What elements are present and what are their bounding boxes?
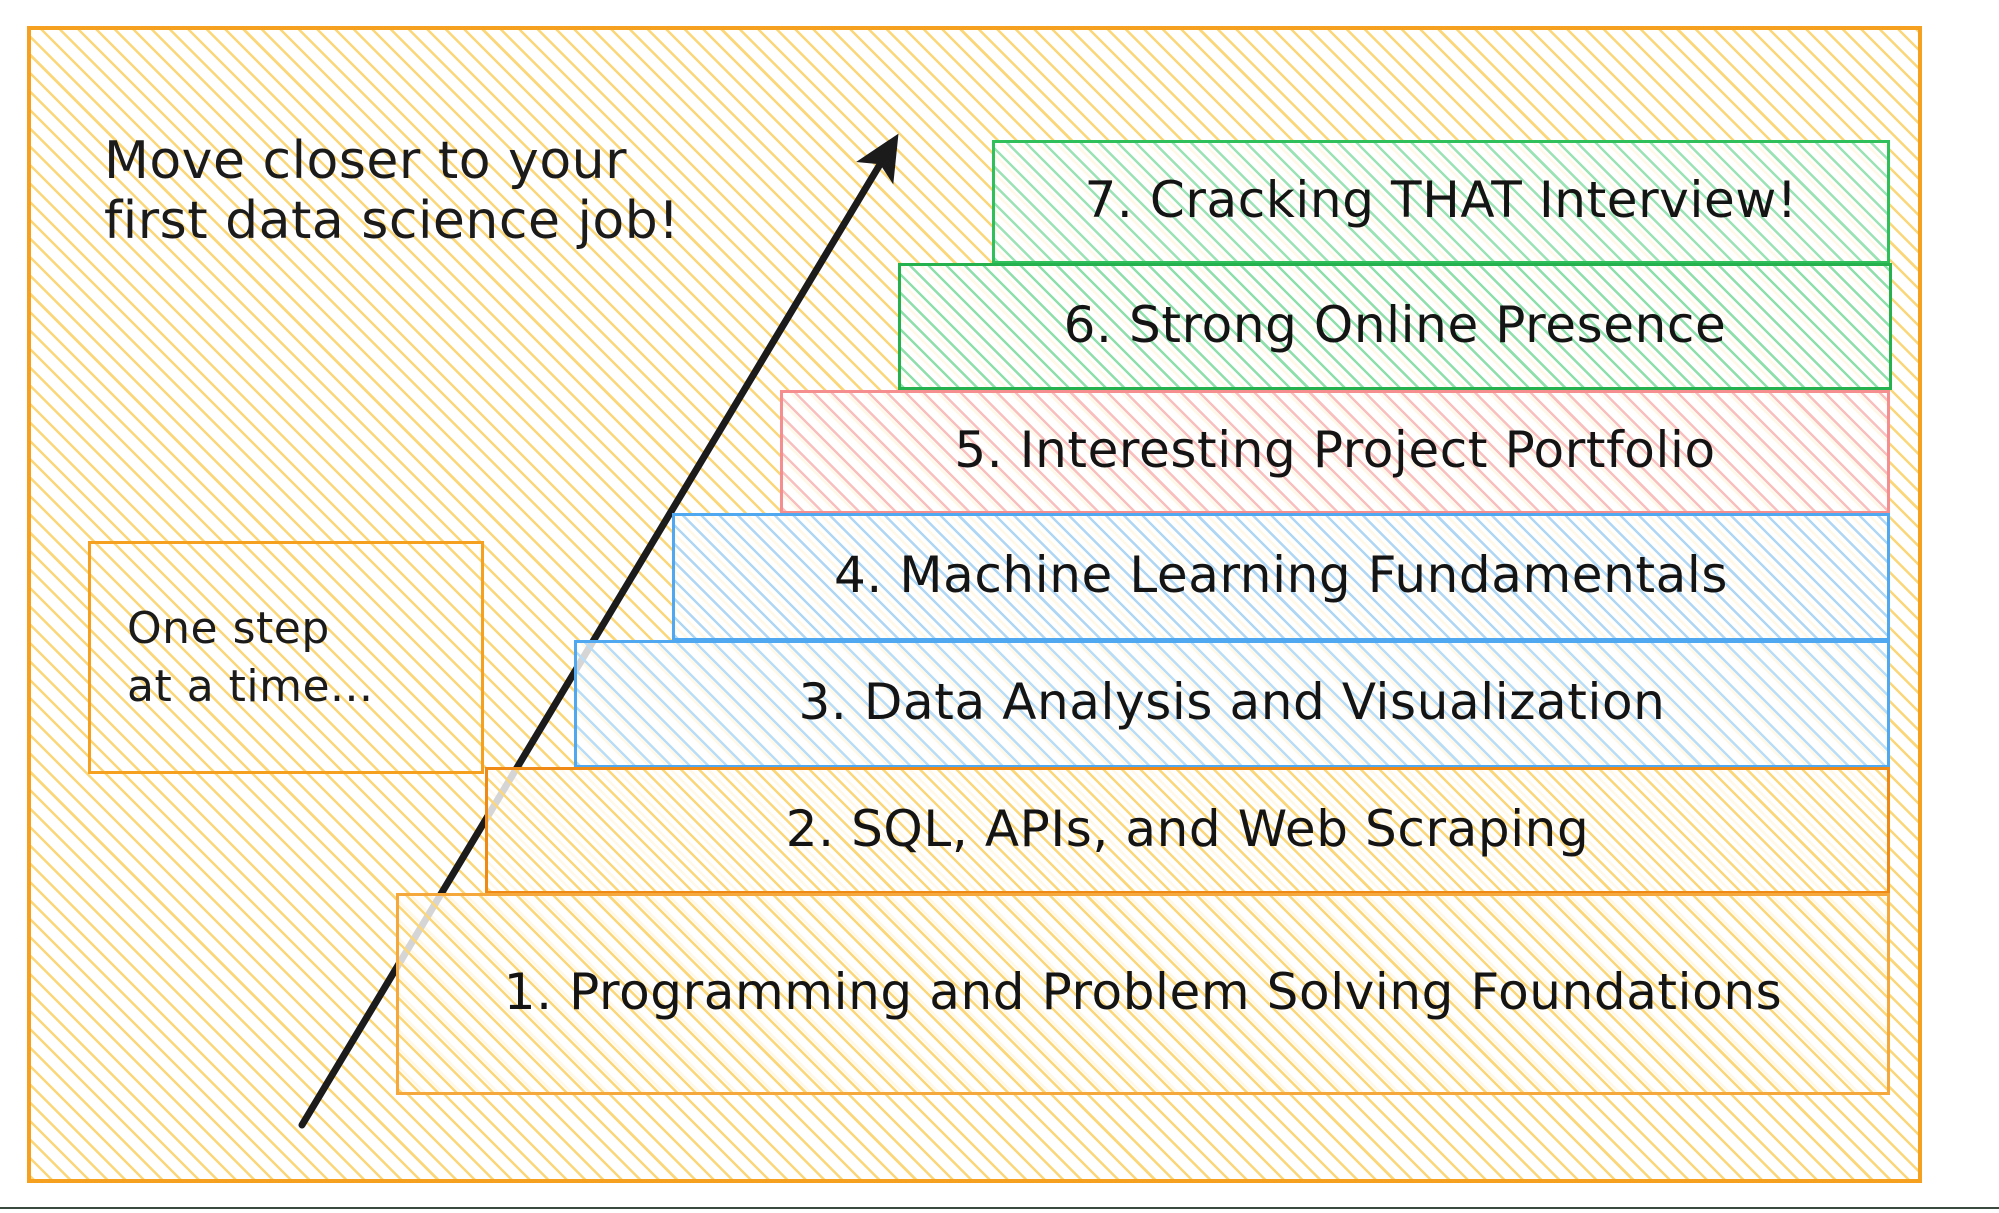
step-label-5: 5. Interesting Project Portfolio <box>954 425 1715 479</box>
step-bar-3[interactable]: 3. Data Analysis and Visualization <box>574 640 1890 768</box>
step-bar-2[interactable]: 2. SQL, APIs, and Web Scraping <box>485 767 1890 894</box>
page-title: Move closer to your first data science j… <box>104 132 824 252</box>
step-label-3: 3. Data Analysis and Visualization <box>799 677 1666 731</box>
step-bar-5[interactable]: 5. Interesting Project Portfolio <box>780 390 1890 514</box>
step-label-1: 1. Programming and Problem Solving Found… <box>504 967 1783 1021</box>
step-bar-1[interactable]: 1. Programming and Problem Solving Found… <box>396 893 1890 1095</box>
diagram-canvas: Move closer to your first data science j… <box>0 0 1999 1213</box>
step-bar-4[interactable]: 4. Machine Learning Fundamentals <box>672 513 1890 641</box>
one-step-note-text: One step at a time... <box>91 600 374 714</box>
bottom-rule <box>0 1207 1999 1209</box>
one-step-note-box: One step at a time... <box>88 541 484 774</box>
step-label-7: 7. Cracking THAT Interview! <box>1084 175 1797 229</box>
step-label-6: 6. Strong Online Presence <box>1064 300 1727 354</box>
step-label-4: 4. Machine Learning Fundamentals <box>834 550 1728 604</box>
step-bar-6[interactable]: 6. Strong Online Presence <box>898 263 1892 390</box>
step-label-2: 2. SQL, APIs, and Web Scraping <box>786 804 1590 858</box>
diagram-board: Move closer to your first data science j… <box>27 26 1922 1183</box>
step-bar-7[interactable]: 7. Cracking THAT Interview! <box>992 140 1890 264</box>
